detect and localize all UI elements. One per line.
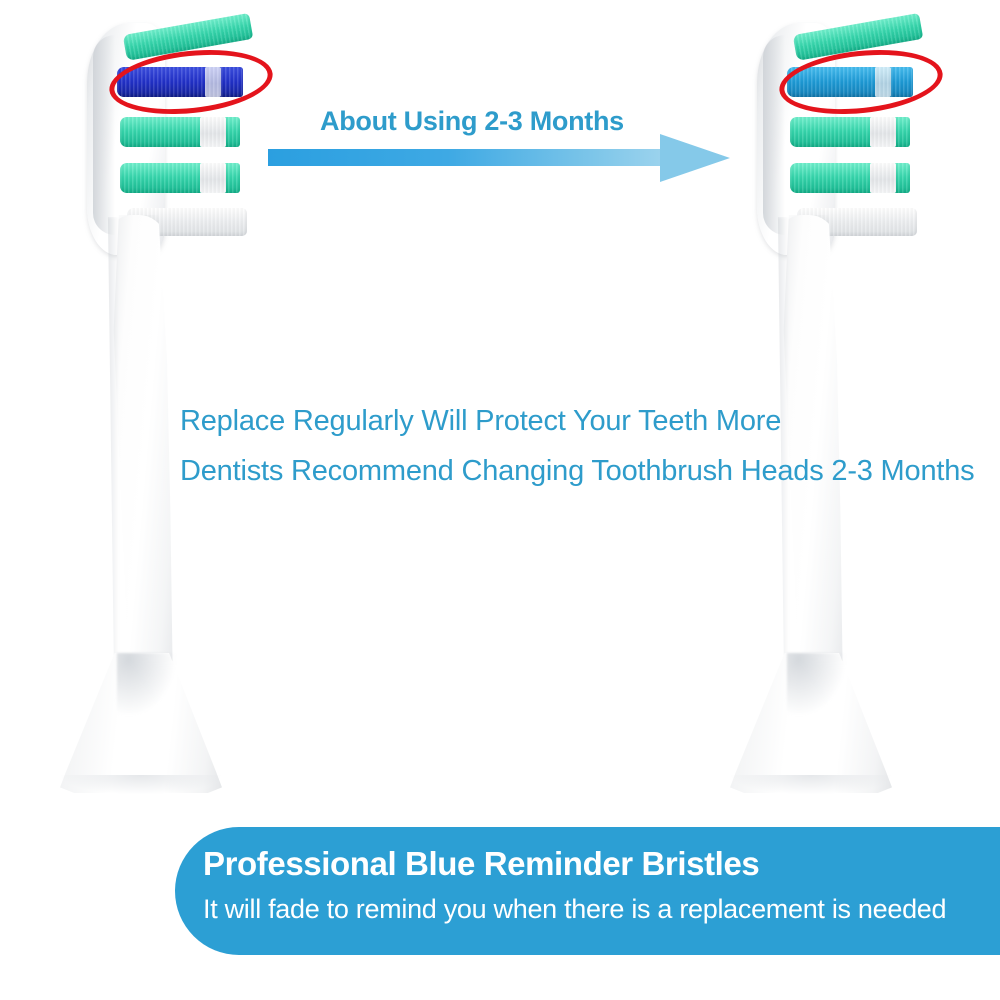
brush-base-notch (117, 653, 175, 715)
bristle-tip-cap (896, 163, 910, 193)
arrow-head-icon (660, 134, 730, 182)
feature-banner: Professional Blue Reminder Bristles It w… (175, 827, 1000, 955)
bristle-white-segment (870, 117, 896, 147)
bristle-tip-cap (226, 163, 240, 193)
brush-base-shadow (729, 775, 893, 795)
brush-neck (93, 215, 179, 695)
arrow-shaft (268, 149, 668, 166)
bristle-row-middle-2 (790, 163, 910, 193)
arrow-label: About Using 2-3 Months (320, 106, 624, 137)
bristle-tip-cap (896, 117, 910, 147)
bristle-row-middle-1 (790, 117, 910, 147)
banner-title: Professional Blue Reminder Bristles (203, 840, 1000, 887)
bristle-white-segment (200, 163, 226, 193)
bristle-row-middle-1 (120, 117, 240, 147)
infographic-page: About Using 2-3 Months Replace Regularly… (0, 0, 1000, 1000)
center-message-line-2: Dentists Recommend Changing Toothbrush H… (180, 446, 970, 496)
brush-neck-shading (97, 217, 123, 687)
time-progression-arrow: About Using 2-3 Months (268, 106, 738, 186)
bristle-row-middle-2 (120, 163, 240, 193)
banner-subtitle: It will fade to remind you when there is… (203, 887, 1000, 931)
center-message: Replace Regularly Will Protect Your Teet… (180, 396, 970, 496)
brush-base-shadow (59, 775, 223, 795)
center-message-line-1: Replace Regularly Will Protect Your Teet… (180, 396, 970, 446)
brush-base-notch (787, 653, 845, 715)
bristle-white-segment (870, 163, 896, 193)
bristle-white-segment (200, 117, 226, 147)
bristle-tip-cap (226, 117, 240, 147)
